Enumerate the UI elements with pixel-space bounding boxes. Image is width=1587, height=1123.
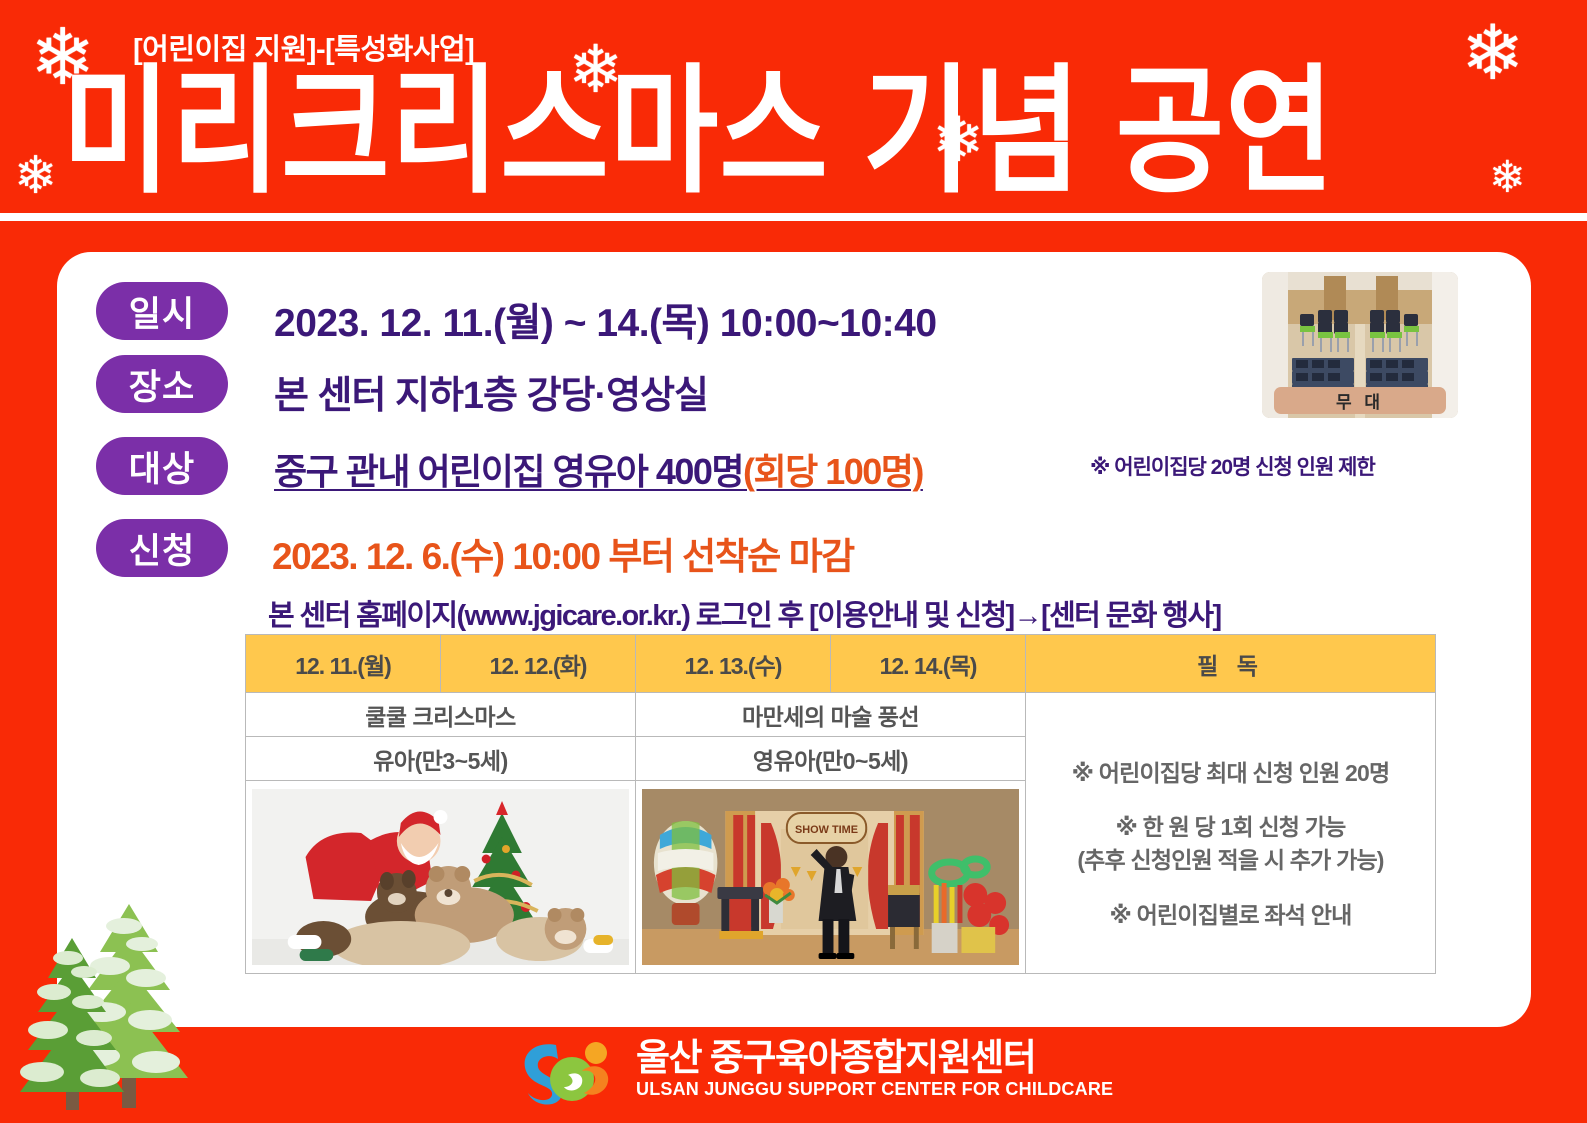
- info-value-apply-sub: 본 센터 홈페이지(www.jgicare.or.kr.) 로그인 후 [이용안…: [268, 592, 1221, 634]
- snowflake-icon: ❄: [932, 110, 984, 172]
- org-name-block: 울산 중구육아종합지원센터 ULSAN JUNGGU SUPPORT CENTE…: [636, 1037, 1113, 1100]
- must-read-note: ※ 어린이집당 최대 신청 인원 20명: [1040, 757, 1421, 790]
- info-value-place: 본 센터 지하1층 강당·영상실: [274, 364, 708, 419]
- table-header-cell: 12. 12.(화): [441, 635, 636, 693]
- must-read-note: ※ 어린이집별로 좌석 안내: [1040, 899, 1421, 932]
- age-group-cell: 유아(만3~5세): [246, 737, 636, 781]
- schedule-table: 12. 11.(월) 12. 12.(화) 12. 13.(수) 12. 14.…: [245, 634, 1436, 974]
- header-divider: [0, 213, 1587, 221]
- program-title-cell: 쿨쿨 크리스마스: [246, 693, 636, 737]
- org-name-kr: 울산 중구육아종합지원센터: [636, 1037, 1113, 1078]
- age-group-cell: 영유아(만0~5세): [636, 737, 1026, 781]
- info-label-place: 장소: [96, 355, 228, 413]
- target-main-text: 중구 관내 어린이집 영유아 400명: [274, 451, 743, 492]
- poster-canvas: [어린이집 지원]-[특성화사업] 미리크리스마스 기념 공연 ❄ ❄ ❄ ❄ …: [0, 0, 1587, 1123]
- footer-logo-block: 울산 중구육아종합지원센터 ULSAN JUNGGU SUPPORT CENTE…: [512, 1031, 1113, 1107]
- info-label-date: 일시: [96, 282, 228, 340]
- info-value-target: 중구 관내 어린이집 영유아 400명(회당 100명): [274, 443, 923, 495]
- snowflake-icon: ❄: [14, 150, 58, 202]
- info-label-apply: 신청: [96, 519, 228, 577]
- magician-show-time-stage-photo: SHOW TIME: [642, 789, 1019, 965]
- table-header-cell: 12. 14.(목): [831, 635, 1026, 693]
- table-header-cell: 12. 13.(수): [636, 635, 831, 693]
- target-accent-text: (회당 100명): [743, 451, 923, 492]
- note-spacer: [1040, 735, 1421, 757]
- info-value-apply: 2023. 12. 6.(수) 10:00 부터 선착순 마감: [272, 526, 854, 580]
- must-read-note: (추후 신청인원 적을 시 추가 가능): [1040, 844, 1421, 877]
- note-spacer: [1040, 877, 1421, 899]
- santa-and-children-in-animal-pajamas-photo: [252, 789, 629, 965]
- svg-text:SHOW TIME: SHOW TIME: [795, 824, 858, 836]
- snowflake-icon: ❄: [30, 18, 95, 96]
- sc-swirl-logo: [512, 1031, 622, 1107]
- table-header-row: 12. 11.(월) 12. 12.(화) 12. 13.(수) 12. 14.…: [246, 635, 1436, 693]
- note-spacer: [1040, 789, 1421, 811]
- table-row-program-title: 쿨쿨 크리스마스 마만세의 마술 풍선 ※ 어린이집당 최대 신청 인원 20명…: [246, 693, 1436, 737]
- stage-layout-thumbnail: 무 대: [1262, 272, 1458, 418]
- must-read-notes-cell: ※ 어린이집당 최대 신청 인원 20명 ※ 한 원 당 1회 신청 가능 (추…: [1026, 693, 1436, 974]
- table-header-cell: 12. 11.(월): [246, 635, 441, 693]
- org-name-en: ULSAN JUNGGU SUPPORT CENTER FOR CHILDCAR…: [636, 1079, 1113, 1101]
- table-header-cell-must-read: 필 독: [1026, 635, 1436, 693]
- info-label-target: 대상: [96, 437, 228, 495]
- info-note-target: ※ 어린이집당 20명 신청 인원 제한: [1090, 451, 1375, 481]
- page-title: 미리크리스마스 기념 공연: [62, 58, 1532, 208]
- program-title-cell: 마만세의 마술 풍선: [636, 693, 1026, 737]
- program-photo-cell: [246, 781, 636, 974]
- stage-caption: 무 대: [1274, 387, 1446, 414]
- poster-header: [어린이집 지원]-[특성화사업] 미리크리스마스 기념 공연 ❄ ❄ ❄ ❄ …: [0, 0, 1587, 213]
- snowflake-icon: ❄: [1489, 156, 1526, 200]
- info-value-date: 2023. 12. 11.(월) ~ 14.(목) 10:00~10:40: [274, 292, 937, 348]
- snowflake-icon: ❄: [1461, 16, 1525, 92]
- must-read-note: ※ 한 원 당 1회 신청 가능: [1040, 811, 1421, 844]
- program-photo-cell: SHOW TIME: [636, 781, 1026, 974]
- snowflake-icon: ❄: [568, 36, 623, 102]
